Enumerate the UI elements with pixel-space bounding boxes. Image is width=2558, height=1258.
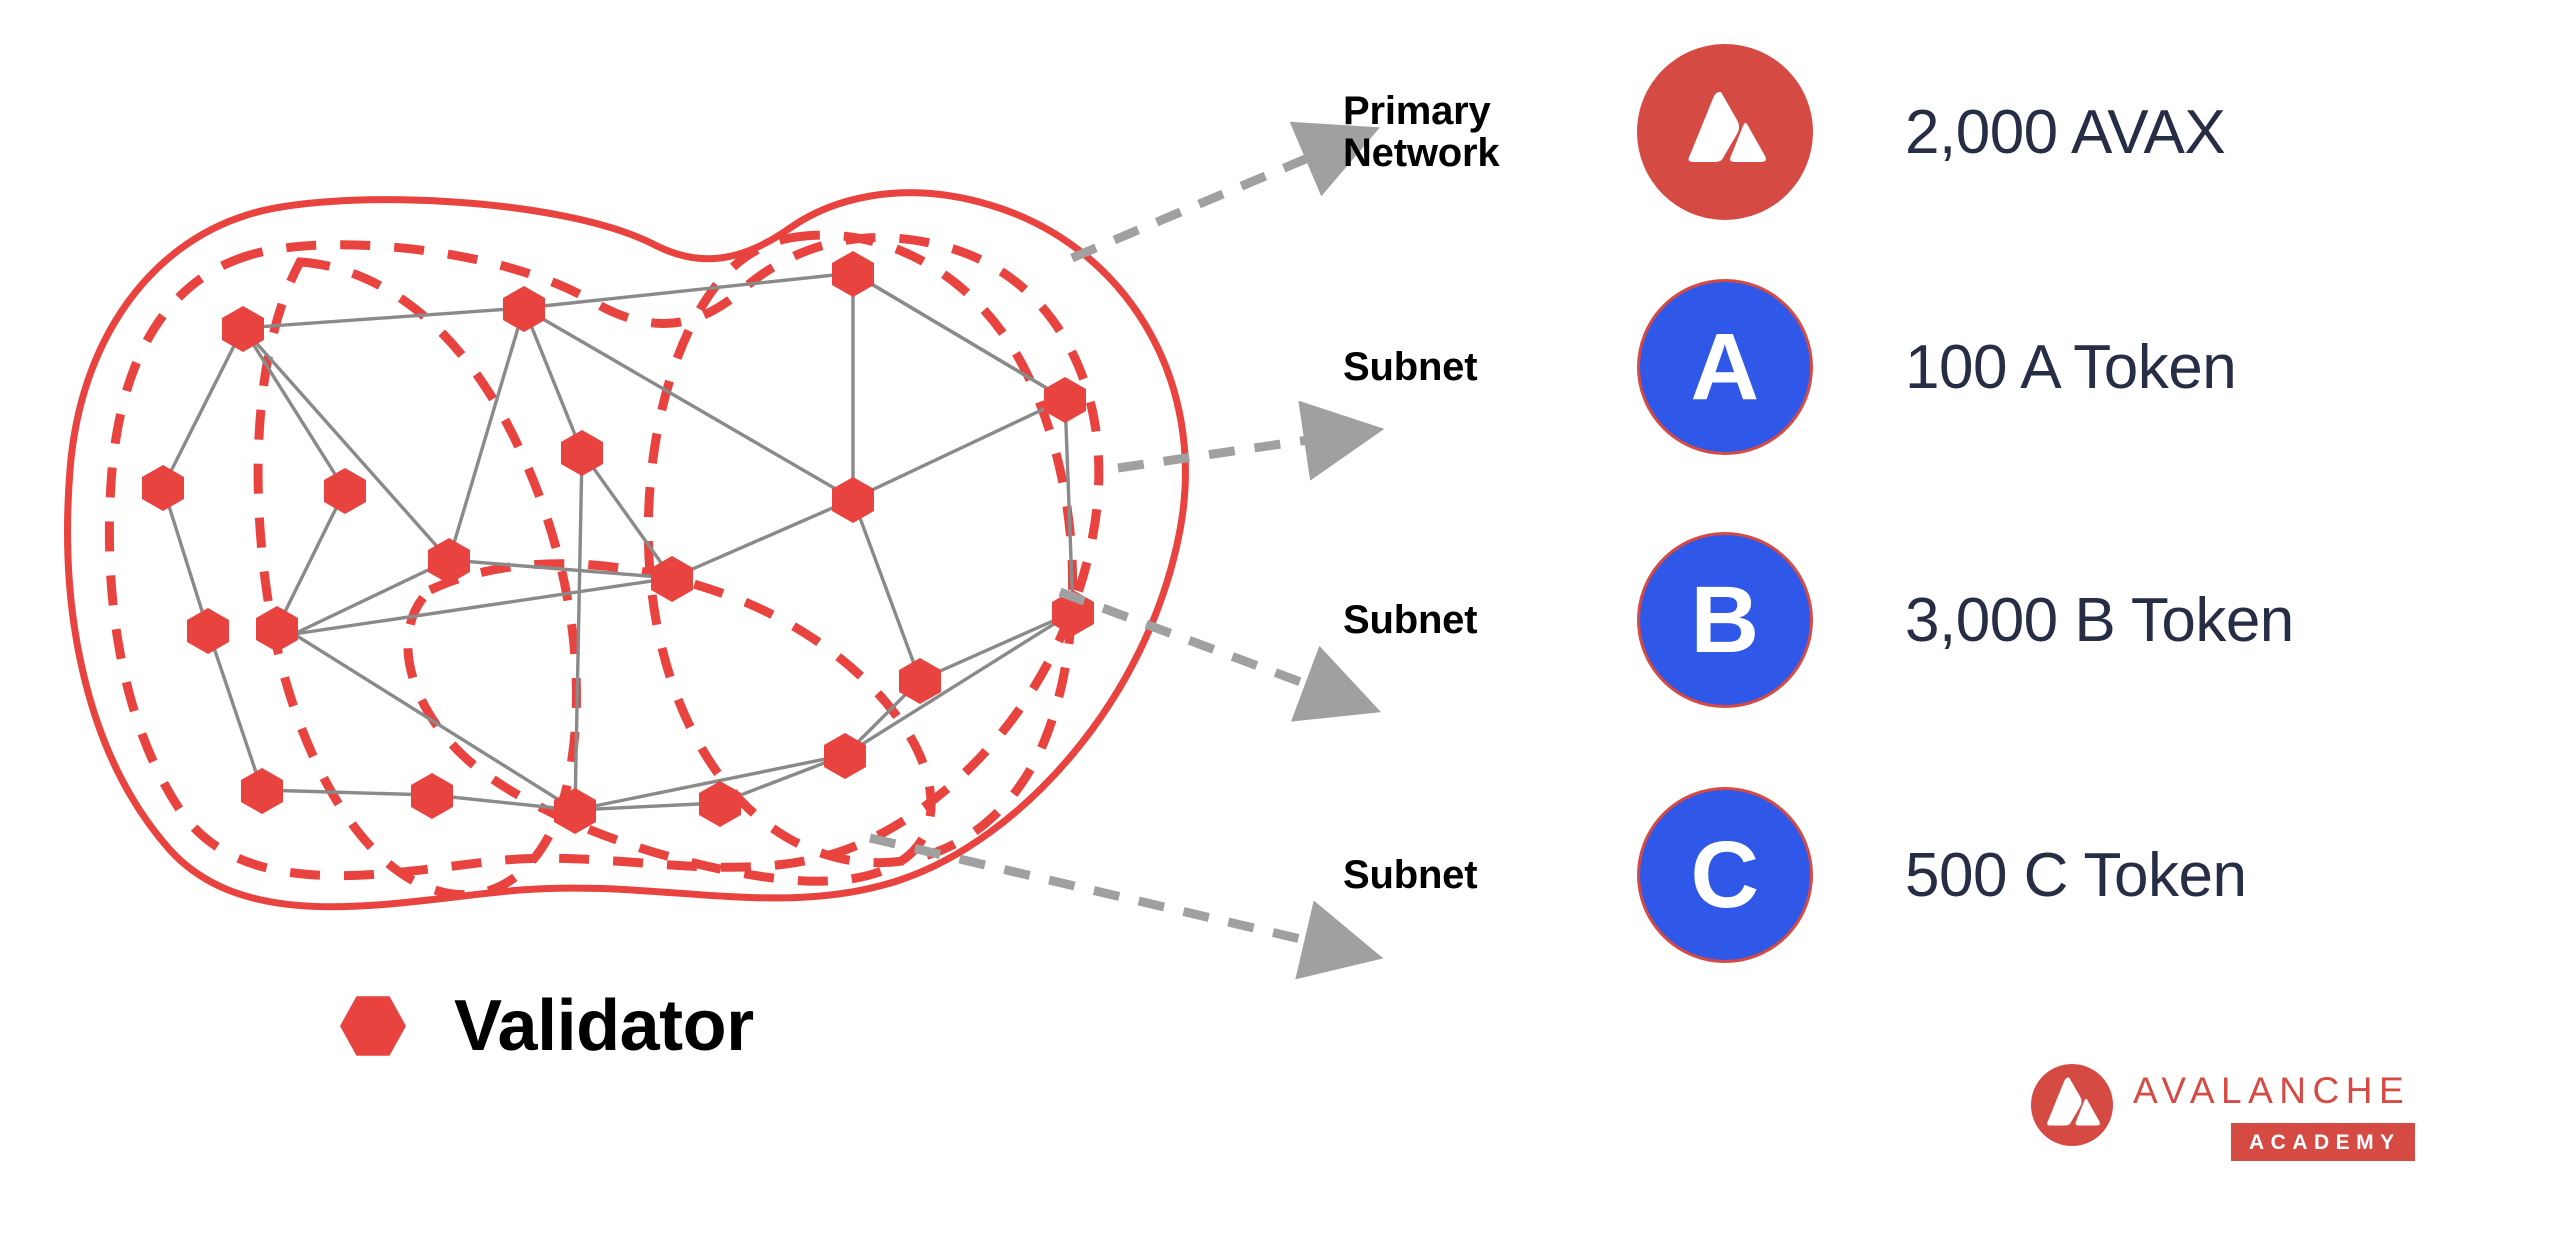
row-amount-subnet-b: 3,000 B Token: [1820, 585, 2558, 656]
arrow-primary-network: [1072, 152, 1322, 258]
subnet-a-badge-icon: A: [1637, 279, 1813, 455]
validator-node: [699, 781, 741, 827]
arrow-subnet-b: [1060, 592, 1322, 690]
avalanche-logo-icon: [2031, 1064, 2113, 1146]
row-badge-subnet-b[interactable]: B: [1630, 532, 1820, 708]
row-badge-subnet-c[interactable]: C: [1630, 787, 1820, 963]
arrow-subnet-c: [870, 838, 1322, 944]
legend-row-subnet-a[interactable]: Subnet A 100 A Token: [1330, 277, 2558, 457]
avalanche-academy-logo: AVALANCHE ACADEMY: [2031, 1064, 2415, 1161]
row-label-subnet-b: Subnet: [1330, 599, 1630, 641]
hexagon-icon: [340, 995, 406, 1057]
validator-node: [561, 430, 603, 476]
validator-legend-label: Validator: [454, 985, 754, 1067]
academy-wordmark-group: AVALANCHE ACADEMY: [2133, 1072, 2415, 1161]
callout-arrows: [870, 152, 1322, 944]
row-label-subnet-a: Subnet: [1330, 346, 1630, 388]
row-amount-subnet-a: 100 A Token: [1820, 332, 2558, 403]
avalanche-wordmark: AVALANCHE: [2133, 1072, 2415, 1109]
validator-node: [1044, 377, 1086, 423]
validator-node: [142, 465, 184, 511]
avalanche-logo-icon: [1637, 44, 1813, 220]
validator-legend: Validator: [340, 985, 754, 1067]
legend-row-subnet-b[interactable]: Subnet B 3,000 B Token: [1330, 530, 2558, 710]
validator-node: [651, 556, 693, 602]
row-label-subnet-c: Subnet: [1330, 854, 1630, 896]
row-label-line1: Primary: [1343, 90, 1630, 132]
row-label-primary-network: Primary Network: [1330, 90, 1630, 174]
validator-node: [503, 286, 545, 332]
validator-node: [324, 468, 366, 514]
row-badge-primary-network[interactable]: [1630, 44, 1820, 220]
legend-row-primary-network[interactable]: Primary Network 2,000 AVAX: [1330, 42, 2558, 222]
validator-node: [411, 773, 453, 819]
subnet-c-letter: C: [1690, 828, 1759, 923]
subnet-c-badge-icon: C: [1637, 787, 1813, 963]
validator-nodes: [142, 251, 1094, 834]
legend-rows: Primary Network 2,000 AVAX Subnet A: [1330, 0, 2558, 1020]
validator-node: [832, 477, 874, 523]
legend-row-subnet-c[interactable]: Subnet C 500 C Token: [1330, 785, 2558, 965]
subnet-b-badge-icon: B: [1637, 532, 1813, 708]
row-amount-subnet-c: 500 C Token: [1820, 840, 2558, 911]
avalanche-subnet-diagram: Primary Network 2,000 AVAX Subnet A: [0, 0, 2558, 1258]
validator-node: [187, 608, 229, 654]
subnet-c-boundary: [408, 564, 931, 882]
row-label-line2: Network: [1343, 132, 1630, 174]
validator-node: [832, 251, 874, 297]
row-badge-subnet-a[interactable]: A: [1630, 279, 1820, 455]
avalanche-glyph-icon: [2031, 1064, 2113, 1146]
avalanche-glyph-icon: [1665, 72, 1785, 192]
arrow-subnet-a: [1118, 438, 1322, 468]
validator-node: [256, 606, 298, 652]
validator-node: [241, 768, 283, 814]
row-amount-primary-network: 2,000 AVAX: [1820, 97, 2558, 168]
academy-wordmark: ACADEMY: [2231, 1123, 2415, 1161]
subnet-a-letter: A: [1690, 320, 1759, 415]
subnet-b-letter: B: [1690, 573, 1759, 668]
